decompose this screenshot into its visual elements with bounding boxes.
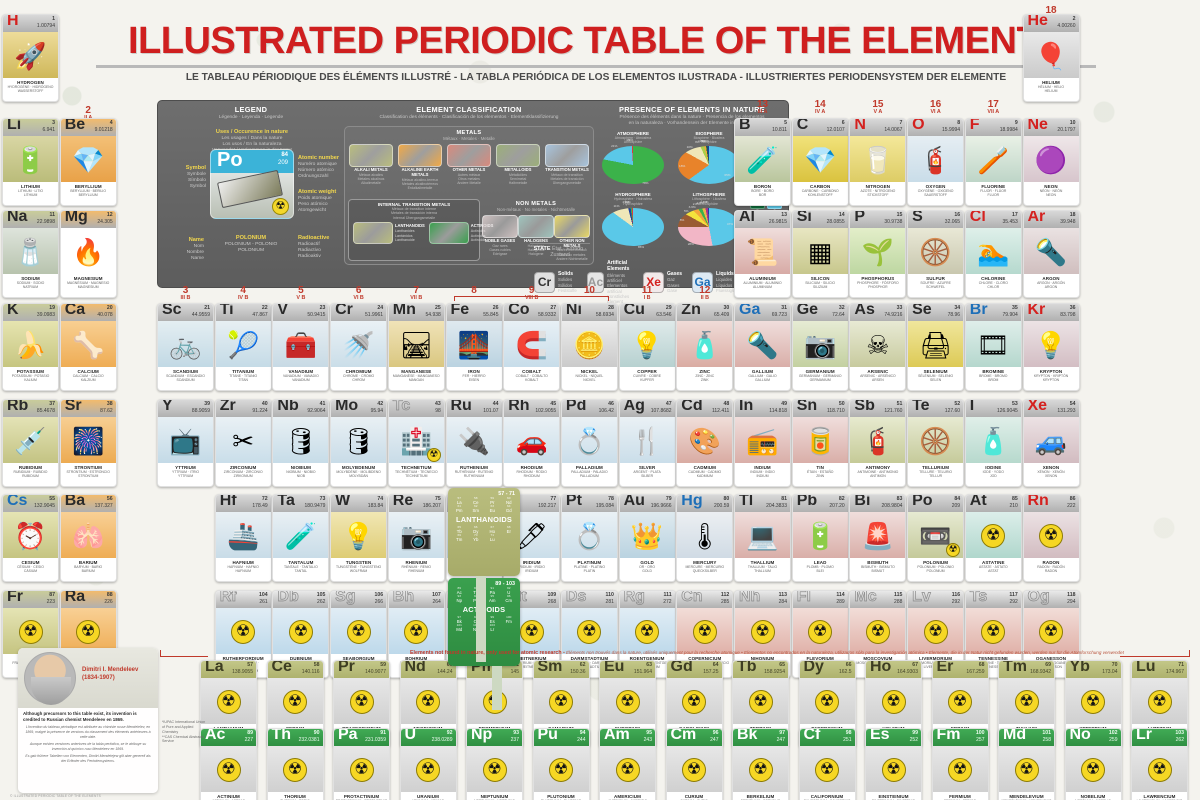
- element-illustration: 📷: [389, 512, 444, 560]
- element-atomic-weight: 164.9303: [897, 669, 918, 675]
- element-atomic-weight: 87.62: [100, 408, 113, 414]
- metal-swatch-chip: [398, 144, 442, 167]
- radioactive-icon: ☢: [1015, 758, 1039, 782]
- element-name-box: ZIRCONIUMZIRCONIUM · ZIRCONIOZIRKONIUM: [216, 463, 271, 486]
- element-atomic-weight: 40.078: [97, 312, 112, 318]
- element-atomic-number: 66: [846, 662, 852, 668]
- element-name: SILVER: [620, 463, 675, 470]
- element-name: CARBON: [793, 182, 848, 189]
- element-header: Rb3785.4678: [3, 400, 58, 417]
- element-name-translations: ÉTAIN · ESTAÑOZINN: [793, 470, 848, 479]
- element-cell-Ag[interactable]: Ag47107.8682🍴SILVERARGENT · PLATASILBER: [619, 399, 676, 487]
- element-atomic-number: 69: [1045, 662, 1051, 668]
- element-icon: 🎨: [689, 428, 721, 454]
- element-cell-Mn[interactable]: Mn2554.938🛤MANGANESEMANGANÈSE · MANGANES…: [388, 303, 445, 391]
- element-header: Ac89227: [201, 729, 256, 746]
- element-illustration: 🫁: [61, 512, 116, 560]
- element-atomic-weight: 145: [511, 669, 519, 675]
- radioactive-icon: ☢: [283, 758, 307, 782]
- element-cell-P[interactable]: P1530.9738🌱PHOSPHORUSPHOSPHORE · FÓSFORO…: [849, 210, 906, 298]
- pie-value-label: 18%: [679, 164, 685, 168]
- element-atomic-weight: 58.6934: [596, 312, 614, 318]
- element-cell-Rh[interactable]: Rh45102.9055🚗RHODIUMRHODIUM · RODIORHODI…: [503, 399, 560, 487]
- element-atomic-number: 8: [957, 120, 960, 126]
- element-header: Na1122.9898: [3, 211, 58, 228]
- element-illustration: ☢: [401, 746, 456, 794]
- element-atomic-weight: 209: [952, 503, 960, 509]
- element-cell-Hg[interactable]: Hg80200.59🌡MERCURYMERCURE · MERCURIOQUEC…: [676, 494, 733, 582]
- element-atomic-weight: 47.867: [252, 312, 267, 318]
- element-cell-Fe[interactable]: Fe2655.845🌉IRONFER · HIERROEISEN: [446, 303, 503, 391]
- element-icon: 💡: [1035, 332, 1067, 358]
- element-icon: 🔦: [1035, 239, 1067, 265]
- metal-swatch-chip: [349, 144, 393, 167]
- legend-symbol-label: Symbol SymboleSímboloSymbol: [160, 165, 206, 190]
- element-name-translations: NIOBIUM · NIOBIONIOB: [273, 470, 328, 479]
- element-illustration: ☢: [908, 608, 963, 656]
- element-icon: 🫁: [72, 523, 104, 549]
- element-atomic-number: 57: [247, 662, 253, 668]
- element-symbol: Pr: [338, 660, 355, 675]
- element-atomic-number: 64: [713, 662, 719, 668]
- element-cell-Cd[interactable]: Cd48112.411🎨CADMIUMCADMIUM · CADMIOKADMI…: [676, 399, 733, 487]
- element-name: MOLYBDENUM: [331, 463, 386, 470]
- element-atomic-number: 83: [897, 496, 903, 502]
- element-atomic-number: 65: [779, 662, 785, 668]
- info-panel: LEGEND Légende · Leyenda · Legende Uses …: [157, 100, 789, 288]
- element-header: Te52127.60: [908, 400, 963, 417]
- element-cell-Y[interactable]: Y3988.9059📺YTTRIUMYTTRIUM · ITRIOYTTRIUM: [157, 399, 214, 487]
- element-icon: 💍: [573, 428, 605, 454]
- element-illustration: ☢: [733, 746, 788, 794]
- element-cell-Zr[interactable]: Zr4091.224✂ZIRCONIUMZIRCONIUM · ZIRCONIO…: [215, 399, 272, 487]
- element-cell-F[interactable]: F918.9984🪥FLUORINEFLUOR · FLÚORFLUOR: [965, 118, 1022, 206]
- element-name: TIN: [793, 463, 848, 470]
- element-cell-Ta[interactable]: Ta73180.9479🧪TANTALUMTANTALE · TANTALIOT…: [272, 494, 329, 582]
- group-number-14: 14IV A: [792, 100, 849, 116]
- element-cell-Ca[interactable]: Ca2040.078🦴CALCIUMCALCIUM · CALCIOKALZIU…: [60, 303, 117, 391]
- element-atomic-number: 79: [666, 496, 672, 502]
- pie-value-label: 65%: [724, 173, 730, 177]
- element-icon: 🧯: [862, 428, 894, 454]
- element-header: Hg80200.59: [677, 495, 732, 512]
- element-cell-Li[interactable]: Li36.941🔋LITHIUMLITHIUM · LITIOLITHIUM: [2, 118, 59, 206]
- element-name-translations: BARYUM · BARIOBARIUM: [61, 565, 116, 574]
- element-cell-Sb[interactable]: Sb51121.760🧯ANTIMONYANTIMOINE · ANTIMONI…: [849, 399, 906, 487]
- element-name-box: TELLURIUMTELLURE · TELURIOTELLUR: [908, 463, 963, 486]
- element-atomic-weight: 4.00260: [1057, 23, 1075, 29]
- element-cell-No[interactable]: No102259☢NOBELIUMNOBÉLIUM · NOBELIONOBEL…: [1065, 728, 1122, 800]
- element-header: Sg106266: [331, 591, 386, 608]
- element-atomic-number: 56: [107, 496, 113, 502]
- radioactive-icon: ☢: [981, 524, 1005, 548]
- element-cell-Ge[interactable]: Ge3272.64📷GERMANIUMGERMANIUM · GERMANIOG…: [792, 303, 849, 391]
- element-header: Cl1735.453: [966, 211, 1021, 228]
- element-atomic-weight: 106.42: [599, 408, 614, 414]
- element-atomic-number: 58: [314, 662, 320, 668]
- element-cell-Ar[interactable]: Ar1839.948🔦ARGONARGON · ARGÓNARGON: [1023, 210, 1080, 298]
- element-atomic-number: 102: [1109, 730, 1118, 736]
- element-cell-Np[interactable]: Np93237☢NEPTUNIUMNEPTUNIUM · NEPTUNIONEP…: [466, 728, 523, 800]
- element-symbol: In: [739, 399, 753, 414]
- element-symbol: Ra: [65, 590, 85, 605]
- element-atomic-number: 99: [912, 730, 918, 736]
- element-cell-K[interactable]: K1939.0983🍌POTASSIUMPOTASSIUM · POTASIOK…: [2, 303, 59, 391]
- group-number-16: 16VI A: [907, 100, 964, 116]
- element-symbol: He: [1028, 14, 1048, 29]
- legend-title: LEGEND: [160, 105, 342, 114]
- element-cell-S[interactable]: S1632.065🛞SULFURSOUFRE · AZUFRESCHWEFEL: [907, 210, 964, 298]
- element-illustration: 🏥☢: [389, 417, 444, 465]
- element-header: Er68167.259: [933, 661, 988, 678]
- element-icon: 🚨: [862, 523, 894, 549]
- element-name-translations: POTASSIUM · POTASIOKALIUM: [3, 374, 58, 383]
- element-cell-Tc[interactable]: Tc4398🏥☢TECHNETIUMTECHNÉTIUM · TECNECIOT…: [388, 399, 445, 487]
- element-atomic-number: 78: [608, 496, 614, 502]
- element-header: Lr103262: [1132, 729, 1187, 746]
- element-cell-Po[interactable]: Po84209📼☢POLONIUMPOLONIUM · POLONIOPOLON…: [907, 494, 964, 582]
- element-name-box: TINÉTAIN · ESTAÑOZINN: [793, 463, 848, 486]
- element-name-translations: TANTALE · TANTALIOTANTAL: [273, 565, 328, 574]
- element-cell-As[interactable]: As3374.9216☠ARSENICARSENIC · ARSÉNICOARS…: [849, 303, 906, 391]
- element-symbol: F: [970, 118, 980, 133]
- element-name-translations: BORE · BOROBOR: [735, 189, 790, 198]
- element-cell-W[interactable]: W74183.84💡TUNGSTENTUNGSTÈNE · TUNGSTENOW…: [330, 494, 387, 582]
- element-header: Pu94244: [534, 729, 589, 746]
- radioactive-icon: ☢: [483, 758, 507, 782]
- element-cell-Ne[interactable]: Ne1020.1797🟣NEONNÉON · NEÓNNEON: [1023, 118, 1080, 206]
- radioactive-icon: ☢: [749, 758, 773, 782]
- element-atomic-weight: 289: [836, 599, 844, 605]
- element-name-box: NITROGENAZOTE · NITRÓGENOSTICKSTOFF: [850, 182, 905, 205]
- series-mini-number: 93: [451, 595, 468, 598]
- element-cell-Se[interactable]: Se3478.96🖨SELENIUMSÉLÉNIUM · SELENIOSELE…: [907, 303, 964, 391]
- element-atomic-weight: 91.224: [252, 408, 267, 414]
- element-cell-O[interactable]: O815.9994🧯OXYGENOXYGÈNE · OXÍGENOSAUERST…: [907, 118, 964, 206]
- element-cell-Cm[interactable]: Cm96247☢CURIUMCURIUM · CURIOCURIUM: [666, 728, 723, 800]
- element-icon: 🧲: [516, 332, 548, 358]
- element-icon: ☠: [866, 332, 889, 358]
- element-cell-Na[interactable]: Na1122.9898🧂SODIUMSODIUM · SODIONATRIUM: [2, 210, 59, 298]
- group-number-17: 17VII A: [965, 100, 1022, 116]
- element-cell-Sn[interactable]: Sn50118.710🥫TINÉTAIN · ESTAÑOZINN: [792, 399, 849, 487]
- element-cell-Ni[interactable]: Ni2858.6934🪙NICKELNICKEL · NÍQUELNICKEL: [561, 303, 618, 391]
- element-illustration: ☢: [331, 608, 386, 656]
- element-cell-Es[interactable]: Es99252☢EINSTEINIUMEINSTEINIUM · EINSTEN…: [865, 728, 922, 800]
- element-illustration: 🍌: [3, 321, 58, 369]
- element-atomic-weight: 150.36: [570, 669, 585, 675]
- element-illustration: ☢: [1024, 608, 1079, 656]
- element-name-translations: ZIRCONIUM · ZIRCONIOZIRKONIUM: [216, 470, 271, 479]
- element-name: YTTRIUM: [158, 463, 213, 470]
- element-header: Rg111272: [620, 591, 675, 608]
- element-atomic-weight: 26.9815: [769, 219, 787, 225]
- element-name: BARIUM: [61, 558, 116, 565]
- element-cell-Mo[interactable]: Mo4295.94🛢MOLYBDENUMMOLYBDÈNE · MOLIBDEN…: [330, 399, 387, 487]
- element-name-translations: OXYGÈNE · OXÍGENOSAUERSTOFF: [908, 189, 963, 198]
- element-icon: 🔋: [804, 523, 836, 549]
- element-name-box: LAWRENCIUMLAWRENCIUM · LAURENCIOLAWRENCI…: [1132, 792, 1187, 800]
- artificial-elements-note: Elements not found in nature, only used …: [410, 650, 1124, 656]
- element-cell-Si[interactable]: Si1428.0855▦SILICONSILICIUM · SILICIOSIL…: [792, 210, 849, 298]
- element-cell-Bi[interactable]: Bi83208.9804🚨BISMUTHBISMUTH · BISMUTOBIS…: [849, 494, 906, 582]
- element-name: CURIUM: [667, 792, 722, 799]
- group-roman: III A: [734, 110, 791, 116]
- series-mini-Np: 93Np: [451, 595, 468, 603]
- element-icon: 🥛: [862, 147, 894, 173]
- pie-figure: 85%11%2%1%1%: [602, 208, 664, 252]
- element-illustration: 🦴: [61, 321, 116, 369]
- element-header: Ar1839.948: [1024, 211, 1079, 228]
- element-name-box: MAGNESIUMMAGNÉSIUM · MAGNESIOMAGNESIUM: [61, 274, 116, 297]
- legend-atomic-weight-label: Atomic weight Poids atomiquePeso atómico…: [298, 189, 344, 214]
- element-symbol: Co: [508, 303, 529, 318]
- element-symbol: Se: [912, 303, 932, 318]
- element-atomic-weight: 140.116: [302, 669, 320, 675]
- note-rule-left: [160, 656, 208, 657]
- element-name: KRYPTON: [1024, 367, 1079, 374]
- radioactive-icon: ☢: [616, 690, 640, 714]
- element-name: EINSTEINIUM: [866, 792, 921, 799]
- element-header: Ni2858.6934: [562, 304, 617, 321]
- element-atomic-number: 80: [724, 496, 730, 502]
- element-cell-Lr[interactable]: Lr103262☢LAWRENCIUMLAWRENCIUM · LAURENCI…: [1131, 728, 1188, 800]
- element-name-translations: STRONTIUM · ESTRONCIOSTRONTIUM: [61, 470, 116, 479]
- element-cell-U[interactable]: U92238.0289☢URANIUMURANIUM · URANIOURAN: [400, 728, 457, 800]
- element-cell-V[interactable]: V2350.9415🧰VANADIUMVANADIUM · VANADIOVAN…: [272, 303, 329, 391]
- pie-disk: [678, 208, 740, 246]
- element-cell-Pd[interactable]: Pd46106.42💍PALLADIUMPALLADIUM · PALADIOP…: [561, 399, 618, 487]
- element-cell-Cu[interactable]: Cu2963.546💡COPPERCUIVRE · COBREKUPFER: [619, 303, 676, 391]
- metal-swatch-tr: Autres métauxOtros metalesAndere Metalle: [447, 173, 491, 186]
- element-symbol: Pb: [797, 494, 817, 509]
- element-cell-Zn[interactable]: Zn3065.409🧴ZINCZINC · ZINCZINK: [676, 303, 733, 391]
- legend-atomic-number-label: Atomic number Numéro atomiqueNúmero atóm…: [298, 155, 344, 180]
- element-illustration: 🧯: [908, 136, 963, 184]
- element-name-translations: FER · HIERROEISEN: [447, 374, 502, 383]
- radioactive-icon: ☢: [272, 198, 289, 215]
- element-cell-N[interactable]: N714.0067🥛NITROGENAZOTE · NITRÓGENOSTICK…: [849, 118, 906, 206]
- radioactive-icon: ☢: [815, 690, 839, 714]
- element-header: Re75186.207: [389, 495, 444, 512]
- element-name-box: IODINEIODE · YODOJOD: [966, 463, 1021, 486]
- element-symbol: Nb: [277, 399, 298, 414]
- element-atomic-weight: 210: [1009, 503, 1017, 509]
- element-header: Np93237: [467, 729, 522, 746]
- element-cell-C[interactable]: C612.0107💎CARBONCARBONE · CARBONOKOHLENS…: [792, 118, 849, 206]
- metal-swatch-chip: [447, 144, 491, 167]
- element-illustration: 🌉: [447, 321, 502, 369]
- page-subtitle: LE TABLEAU PÉRIODIQUE DES ÉLÉMENTS ILLUS…: [96, 72, 1096, 83]
- element-atomic-number: 33: [897, 305, 903, 311]
- series-mini-number: 64: [501, 505, 518, 508]
- lanthanoids-key[interactable]: 57 - 71 57La58Ce59Pr60Nd61Pm62Sm63Eu64Gd…: [448, 488, 520, 576]
- element-name-translations: PLATINE · PLATINOPLATIN: [562, 565, 617, 574]
- element-illustration: 📻: [735, 417, 790, 465]
- element-cell-Rb[interactable]: Rb3785.4678💉RUBIDIUMRUBIDIUM · RUBIDIORU…: [2, 399, 59, 487]
- element-atomic-number: 98: [846, 730, 852, 736]
- radioactive-icon: ☢: [76, 620, 100, 644]
- element-atomic-weight: 251: [843, 737, 851, 743]
- element-symbol: Re: [393, 494, 413, 509]
- element-cell-Te[interactable]: Te52127.60🛞TELLURIUMTELLURE · TELURIOTEL…: [907, 399, 964, 487]
- element-atomic-number: 23: [320, 305, 326, 311]
- radioactive-icon: ☢: [427, 448, 441, 462]
- pie-chart-hydrosphere: HYDROSPHEREHydrosphère · HidrosferaHydro…: [596, 192, 670, 252]
- radioactive-icon: ☢: [549, 758, 573, 782]
- element-cell-Th[interactable]: Th90232.0381☢THORIUMTHORIUM · TORIOTHORI…: [267, 728, 324, 800]
- element-name-box: AMERICIUMAMÉRICIUM · AMERICIOAMERICIUM: [600, 792, 655, 800]
- element-name-translations: PLOMB · PLOMOBLEI: [793, 565, 848, 574]
- element-illustration: 🎞: [966, 321, 1021, 369]
- element-symbol: Ru: [451, 399, 472, 414]
- element-header: Al1326.9815: [735, 211, 790, 228]
- element-cell-Ba[interactable]: Ba56137.327🫁BARIUMBARYUM · BARIOBARIUM: [60, 494, 117, 582]
- legend-name-label: Name NomNombreName: [160, 237, 204, 262]
- element-illustration: ☢: [467, 746, 522, 794]
- element-illustration: 🧪: [735, 136, 790, 184]
- element-cell-Cl[interactable]: Cl1735.453🏊CHLORINECHLORE · CLOROCHLOR: [965, 210, 1022, 298]
- element-cell-Am[interactable]: Am95243☢AMERICIUMAMÉRICIUM · AMERICIOAME…: [599, 728, 656, 800]
- element-name-translations: HYDROGÈNE · HIDRÓGENOWASSERSTOFF: [3, 85, 58, 94]
- element-illustration: ☢: [1132, 746, 1187, 794]
- element-cell-Cr[interactable]: Cr2451.9961🚿CHROMIUMCHROME · CROMOCHROM: [330, 303, 387, 391]
- element-symbol: Tc: [393, 399, 410, 414]
- element-cell-At[interactable]: At85210☢ASTATINEASTATE · ÁSTATOASTAT: [965, 494, 1022, 582]
- element-cell-Ti[interactable]: Ti2247.867🎾TITANIUMTITANE · TITANIOTITAN: [215, 303, 272, 391]
- element-cell-Pa[interactable]: Pa91231.0359☢PROTACTINIUMPROTACTINIUM · …: [333, 728, 390, 800]
- element-atomic-weight: 292: [952, 599, 960, 605]
- element-atomic-number: 9: [1015, 120, 1018, 126]
- element-header: Pr59140.9077: [334, 661, 389, 678]
- element-name-box: TECHNETIUMTECHNÉTIUM · TECNECIOTECHNETIU…: [389, 463, 444, 486]
- element-illustration: 🧪: [273, 512, 328, 560]
- element-cell-Md[interactable]: Md101258☢MENDELEVIUMMENDÉLÉVIUM · MENDEL…: [998, 728, 1055, 800]
- element-name-box: CURIUMCURIUM · CURIOCURIUM: [667, 792, 722, 800]
- element-illustration: ☢: [933, 746, 988, 794]
- element-atomic-number: 2: [1073, 16, 1076, 22]
- element-illustration: ☢: [216, 608, 271, 656]
- element-name: ALUMINIUM: [735, 274, 790, 281]
- element-name-translations: THALLIUM · TALIOTHALLIUM: [735, 565, 790, 574]
- element-atomic-weight: 102.9055: [535, 408, 556, 414]
- group-number-11: 11I B: [619, 286, 676, 302]
- series-mini-Eu: 63Eu: [484, 505, 501, 513]
- element-illustration: ☢: [1066, 678, 1121, 726]
- element-header: Rn86222: [1024, 495, 1079, 512]
- element-atomic-weight: 204.3833: [766, 503, 787, 509]
- element-atomic-number: 93: [513, 730, 519, 736]
- element-header: S1632.065: [908, 211, 963, 228]
- element-atomic-weight: 292: [1009, 599, 1017, 605]
- element-symbol: Cf: [804, 728, 821, 743]
- element-header: Nd60144.24: [401, 661, 456, 678]
- internal-chip-swatch: [429, 222, 469, 244]
- group-roman: VI B: [330, 296, 387, 302]
- element-icon: ▦: [808, 239, 833, 265]
- element-cell-Fm[interactable]: Fm100257☢FERMIUMFERMIUM · FERMIOFERMIUM: [932, 728, 989, 800]
- element-cell-Mg[interactable]: Mg1224.305🔥MAGNESIUMMAGNÉSIUM · MAGNESIO…: [60, 210, 117, 298]
- element-cell-Ga[interactable]: Ga3169.723🔦GALLIUMGALLIUM · GALIOGALLIUM: [734, 303, 791, 391]
- series-mini-number: 89: [451, 587, 468, 590]
- classification-subtitle: Classification des éléments · Clasificac…: [344, 115, 594, 121]
- element-illustration: ▦: [793, 228, 848, 276]
- element-cell-Pu[interactable]: Pu94244☢PLUTONIUMPLUTONIUM · PLUTONIOPLU…: [533, 728, 590, 800]
- element-cell-Nb[interactable]: Nb4192.9064🛢NIOBIUMNIOBIUM · NIOBIONIOB: [272, 399, 329, 487]
- element-illustration: 📼☢: [908, 512, 963, 560]
- element-cell-Ac[interactable]: Ac89227☢ACTINIUMACTINIUM · ACTINIOACTINI…: [200, 728, 257, 800]
- element-name-box: CARBONCARBONE · CARBONOKOHLENSTOFF: [793, 182, 848, 205]
- element-cell-Pb[interactable]: Pb82207.20🔋LEADPLOMB · PLOMOBLEI: [792, 494, 849, 582]
- group-number-12: 12II B: [676, 286, 733, 302]
- element-illustration: ☢: [966, 608, 1021, 656]
- element-cell-Cf[interactable]: Cf98251☢CALIFORNIUMCALIFORNIUM · CALIFOR…: [799, 728, 856, 800]
- element-symbol: Eu: [604, 660, 624, 675]
- element-cell-Sr[interactable]: Sr3887.62🎆STRONTIUMSTRONTIUM · ESTRONCIO…: [60, 399, 117, 487]
- element-atomic-weight: 39.948: [1060, 219, 1075, 225]
- element-atomic-number: 113: [779, 592, 787, 598]
- element-cell-In[interactable]: In49114.818📻INDIUMINDIUM · INDIOINDIUM: [734, 399, 791, 487]
- element-atomic-number: 17: [1012, 212, 1018, 218]
- element-cell-Ru[interactable]: Ru44101.07🔌RUTHENIUMRUTHÉNIUM · RUTENIOR…: [446, 399, 503, 487]
- element-illustration: 💍: [562, 512, 617, 560]
- element-cell-Bk[interactable]: Bk97247☢BERKELIUMBERKÉLIUM · BERKELIOBER…: [732, 728, 789, 800]
- element-atomic-number: 30: [724, 305, 730, 311]
- element-atomic-weight: 227: [245, 737, 253, 743]
- element-cell-Pt[interactable]: Pt78195.084💍PLATINUMPLATINE · PLATINOPLA…: [561, 494, 618, 582]
- element-name-translations: ANTIMOINE · ANTIMONIOANTIMON: [850, 470, 905, 479]
- element-atomic-number: 94: [580, 730, 586, 736]
- element-atomic-number: 100: [976, 730, 985, 736]
- element-cell-Xe[interactable]: Xe54131.293🚙XENONXÉNON · XENÓNXENON: [1023, 399, 1080, 487]
- element-cell-Rn[interactable]: Rn86222☢RADONRADON · RADÓNRADON: [1023, 494, 1080, 582]
- element-cell-Be[interactable]: Be49.01218💎BERYLLIUMBERYLLIUM · BERILIOB…: [60, 118, 117, 206]
- element-name-box: CESIUMCÉSIUM · CESIOCÄSIUM: [3, 558, 58, 581]
- element-name-translations: VANADIUM · VANADIOVANADIUM: [273, 374, 328, 383]
- element-icon: 🎆: [72, 428, 104, 454]
- element-cell-Kr[interactable]: Kr3683.798💡KRYPTONKRYPTON · KRIPTÓNKRYPT…: [1023, 303, 1080, 391]
- element-cell-H[interactable]: H11.00794🚀HYDROGENHYDROGÈNE · HIDRÓGENOW…: [2, 14, 59, 102]
- radioactive-icon: ☢: [416, 758, 440, 782]
- element-illustration: 💡: [620, 321, 675, 369]
- legend-example-card: Po 84 209 ☢: [210, 149, 294, 219]
- element-cell-He[interactable]: He24.00260🎈HELIUMHÉLIUM · HELIOHELIUM: [1023, 14, 1080, 102]
- element-atomic-number: 46: [608, 401, 614, 407]
- element-cell-Hf[interactable]: Hf72178.49🚢HAFNIUMHAFNIUM · HAFNIOHAFNIU…: [215, 494, 272, 582]
- element-illustration: 💎: [793, 136, 848, 184]
- element-cell-Re[interactable]: Re75186.207📷RHENIUMRHÉNIUM · RENIORHENIU…: [388, 494, 445, 582]
- element-cell-Al[interactable]: Al1326.9815📜ALUMINIUMALUMINIUM · ALUMINI…: [734, 210, 791, 298]
- element-cell-Sc[interactable]: Sc2144.9559🚲SCANDIUMSCANDIUM · ESCANDIOS…: [157, 303, 214, 391]
- element-cell-B[interactable]: B510.811🧪BORONBORE · BOROBOR: [734, 118, 791, 206]
- element-cell-Br[interactable]: Br3579.904🎞BROMINEBROME · BROMOBROM: [965, 303, 1022, 391]
- element-name-translations: OR · OROGOLD: [620, 565, 675, 574]
- element-atomic-weight: 28.0855: [827, 219, 845, 225]
- element-symbol: U: [405, 728, 417, 743]
- element-cell-Tl[interactable]: Tl81204.3833💻THALLIUMTHALLIUM · TALIOTHA…: [734, 494, 791, 582]
- element-name: IRON: [447, 367, 502, 374]
- element-cell-Au[interactable]: Au79196.9666👑GOLDOR · OROGOLD: [619, 494, 676, 582]
- element-cell-Co[interactable]: Co2758.9332🧲COBALTCOBALT · COBALTOKOBALT: [503, 303, 560, 391]
- element-cell-Cs[interactable]: Cs55132.9045⏰CESIUMCÉSIUM · CESIOCÄSIUM: [2, 494, 59, 582]
- element-header: Cd48112.411: [677, 400, 732, 417]
- element-name-translations: TUNGSTÈNE · TUNGSTENOWOLFRAM: [331, 565, 386, 574]
- element-atomic-weight: 168.9342: [1030, 669, 1051, 675]
- element-name-box: ARSENICARSENIC · ARSÉNICOARSEN: [850, 367, 905, 390]
- element-cell-I[interactable]: I53126.9045🧴IODINEIODE · YODOJOD: [965, 399, 1022, 487]
- element-atomic-number: 38: [107, 401, 113, 407]
- element-symbol: Sb: [854, 399, 874, 414]
